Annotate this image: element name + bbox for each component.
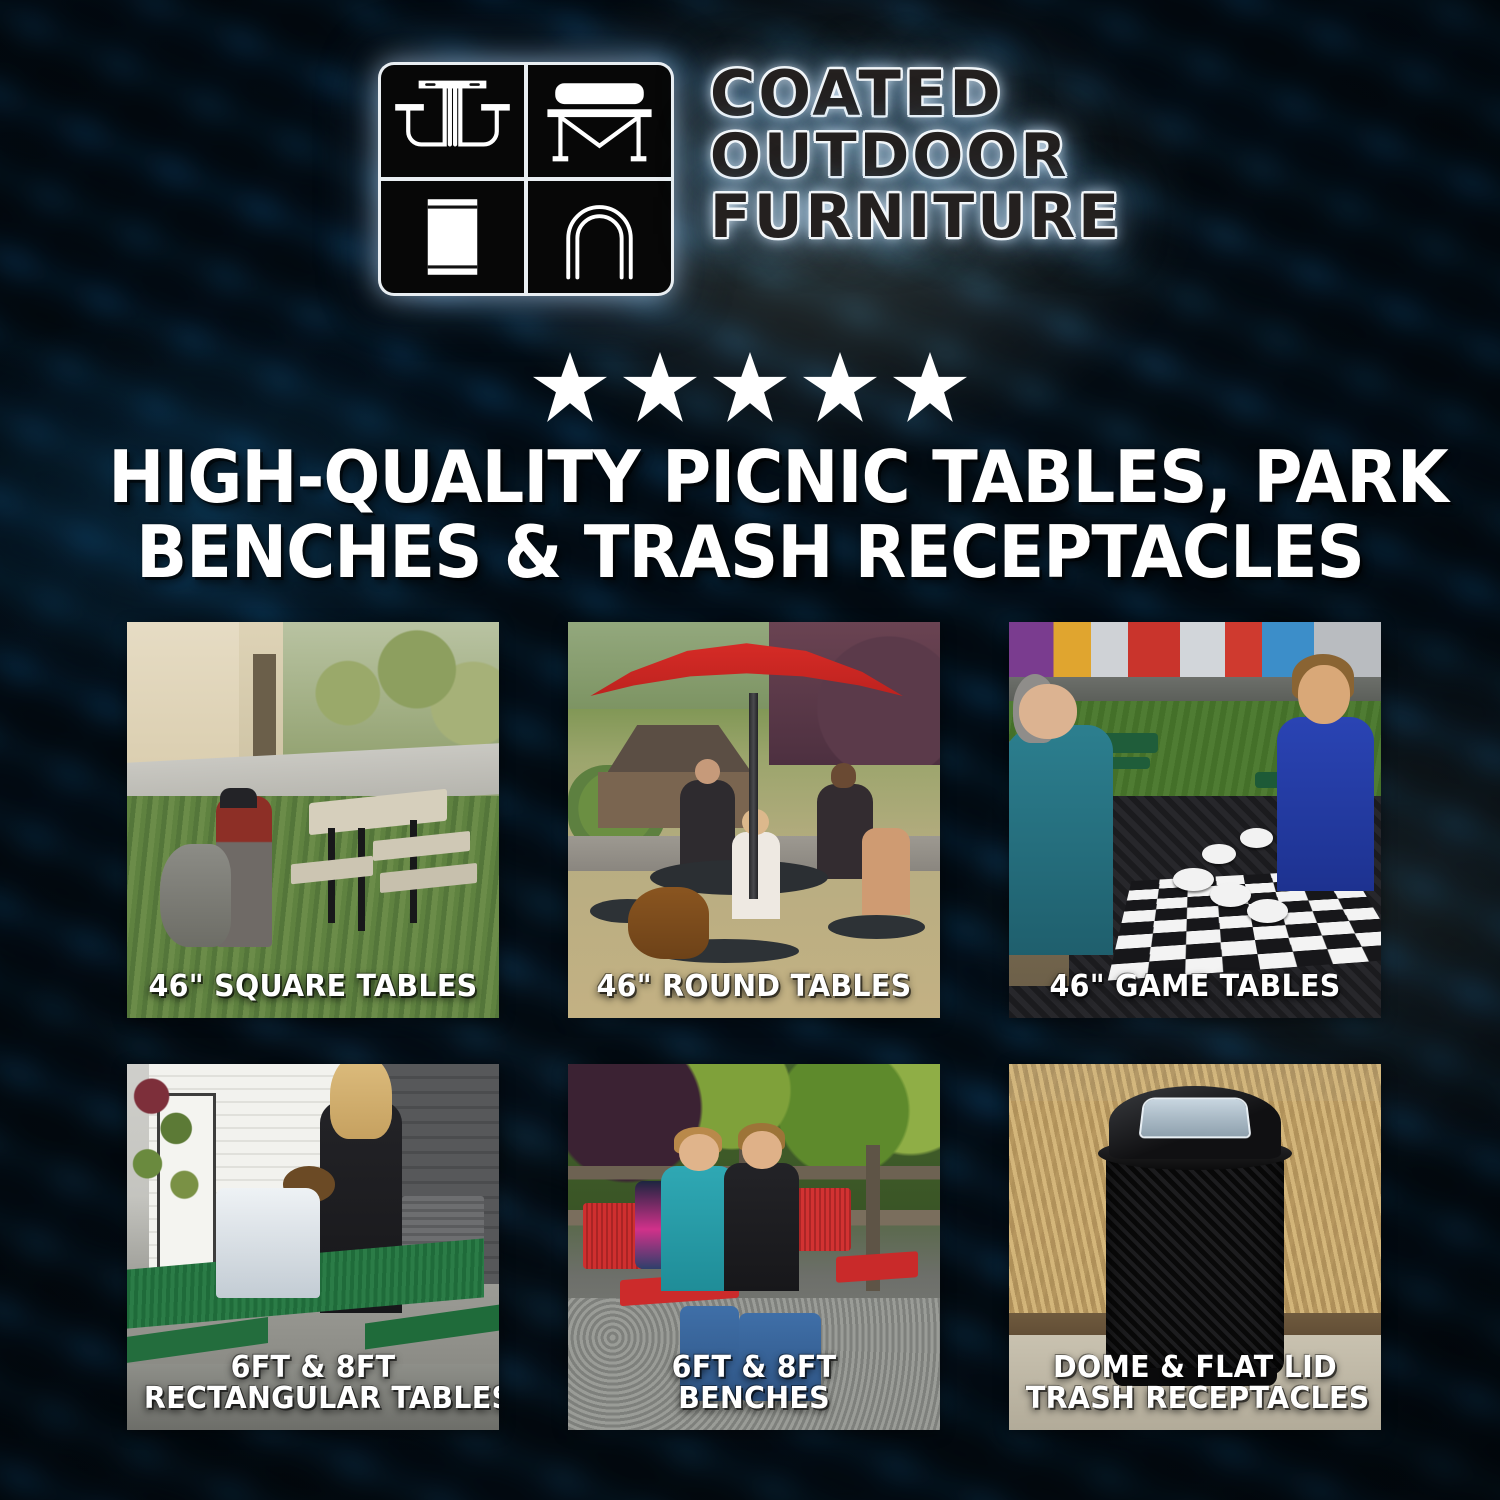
star-icon — [533, 352, 607, 422]
product-caption: 46" GAME TABLES — [1018, 971, 1371, 1018]
product-tile-round-tables[interactable]: 46" ROUND TABLES — [568, 622, 940, 1018]
brand-logo: COATED OUTDOOR FURNITURE — [0, 62, 1500, 296]
star-icon — [623, 352, 697, 422]
trash-receptacle-icon — [381, 181, 524, 293]
caption-line-2: BENCHES — [585, 1383, 923, 1414]
product-tile-square-tables[interactable]: 46" SQUARE TABLES — [127, 622, 499, 1018]
product-caption: 6FT & 8FT RECTANGULAR TABLES — [136, 1352, 489, 1430]
promo-banner: COATED OUTDOOR FURNITURE HIGH-QUALITY PI… — [0, 0, 1500, 1500]
park-bench-icon — [528, 65, 671, 177]
page-title: HIGH-QUALITY PICNIC TABLES, PARK BENCHES… — [53, 440, 1448, 590]
product-caption: 6FT & 8FT BENCHES — [577, 1352, 930, 1430]
brand-word-2: OUTDOOR — [710, 127, 1122, 186]
caption-line-2: RECTANGULAR TABLES — [144, 1383, 482, 1414]
caption-line-1: DOME & FLAT LID — [1026, 1352, 1364, 1383]
brand-word-1: COATED — [710, 64, 1122, 125]
star-icon — [713, 352, 787, 422]
headline-line-2: BENCHES & TRASH RECEPTACLES — [108, 515, 1391, 590]
product-photo-round-tables — [568, 622, 940, 1018]
product-caption: DOME & FLAT LID TRASH RECEPTACLES — [1018, 1352, 1371, 1430]
logo-icon-grid — [378, 62, 674, 296]
brand-word-3: FURNITURE — [710, 188, 1122, 247]
star-icon — [893, 352, 967, 422]
caption-line-1: 46" ROUND TABLES — [585, 971, 923, 1002]
headline-line-1: HIGH-QUALITY PICNIC TABLES, PARK — [108, 440, 1391, 515]
product-tile-benches[interactable]: 6FT & 8FT BENCHES — [568, 1064, 940, 1430]
star-icon — [803, 352, 877, 422]
caption-line-1: 46" GAME TABLES — [1026, 971, 1364, 1002]
bike-rack-icon — [528, 181, 671, 293]
caption-line-1: 6FT & 8FT — [144, 1352, 482, 1383]
product-tile-trash-receptacles[interactable]: DOME & FLAT LID TRASH RECEPTACLES — [1009, 1064, 1381, 1430]
product-grid: 46" SQUARE TABLES — [127, 622, 1373, 1430]
brand-wordmark: COATED OUTDOOR FURNITURE — [710, 62, 1122, 246]
star-rating — [0, 352, 1500, 422]
picnic-table-icon — [381, 65, 524, 177]
product-photo-game-tables — [1009, 622, 1381, 1018]
product-caption: 46" SQUARE TABLES — [136, 971, 489, 1018]
caption-line-1: 6FT & 8FT — [585, 1352, 923, 1383]
product-tile-game-tables[interactable]: 46" GAME TABLES — [1009, 622, 1381, 1018]
product-photo-square-tables — [127, 622, 499, 1018]
caption-line-1: 46" SQUARE TABLES — [144, 971, 482, 1002]
caption-line-2: TRASH RECEPTACLES — [1026, 1383, 1364, 1414]
product-caption: 46" ROUND TABLES — [577, 971, 930, 1018]
product-tile-rectangular-tables[interactable]: 6FT & 8FT RECTANGULAR TABLES — [127, 1064, 499, 1430]
